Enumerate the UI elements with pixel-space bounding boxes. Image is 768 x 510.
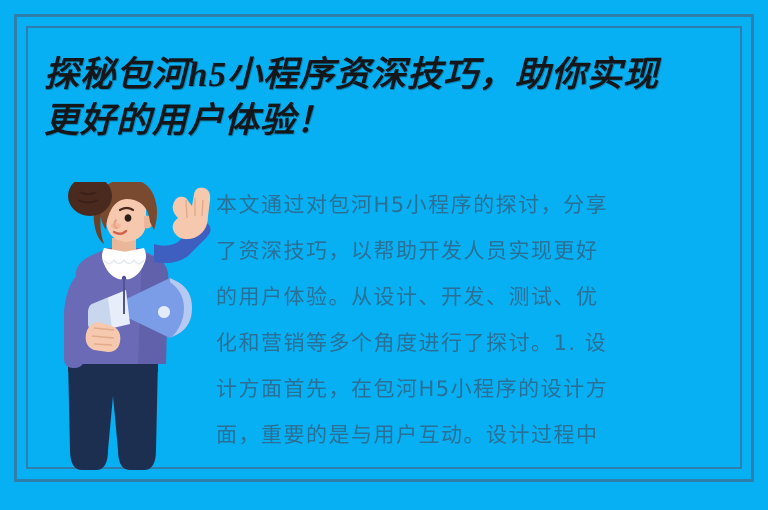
pants-shape xyxy=(68,360,158,470)
title-line-1: 探秘包河h5小程序资深技巧，助你实现 xyxy=(44,52,744,98)
eye xyxy=(125,214,132,222)
body-line-3: 的用户体验。从设计、开发、测试、优 xyxy=(216,274,734,320)
title-line-2: 更好的用户体验！ xyxy=(44,98,744,144)
megaphone-detail-dot xyxy=(158,306,170,318)
body-line-2: 了资深技巧，以帮助开发人员实现更好 xyxy=(216,228,734,274)
body-line-6: 面，重要的是与用户互动。设计过程中 xyxy=(216,412,734,458)
zipper-pull xyxy=(122,276,126,280)
poster-body-text: 本文通过对包河H5小程序的探讨，分享 了资深技巧，以帮助开发人员实现更好 的用户… xyxy=(216,182,734,458)
body-line-4: 化和营销等多个角度进行了探讨。1. 设 xyxy=(216,320,734,366)
cheek-blush xyxy=(111,223,121,229)
body-line-1: 本文通过对包河H5小程序的探讨，分享 xyxy=(216,182,734,228)
poster-title: 探秘包河h5小程序资深技巧，助你实现 更好的用户体验！ xyxy=(44,52,744,144)
body-line-5: 计方面首先，在包河H5小程序的设计方 xyxy=(216,366,734,412)
woman-with-megaphone-illustration xyxy=(46,182,214,472)
poster-canvas: 探秘包河h5小程序资深技巧，助你实现 更好的用户体验！ 本文通过对包河H5小程序… xyxy=(0,0,768,510)
